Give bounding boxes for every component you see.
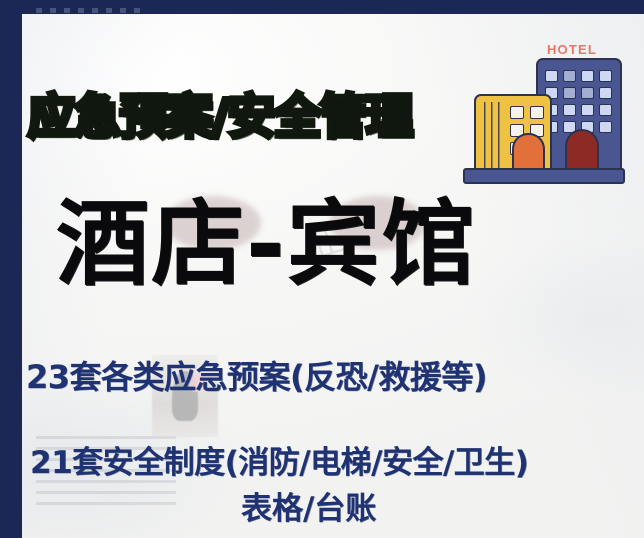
window <box>545 70 558 82</box>
subtitle-line-2: 21套安全制度(消防/电梯/安全/卫生) <box>30 437 528 482</box>
hotel-illustration: HOTEL <box>458 36 628 188</box>
window <box>599 87 612 99</box>
subtitle-line-1: 23套各类应急预案(反恐/救援等) <box>26 352 487 398</box>
window <box>563 70 576 82</box>
subtitle-line-3: 表格/台账 <box>241 483 376 528</box>
hotel-annex-building <box>474 94 552 171</box>
poster-canvas: 正 HOTEL <box>0 0 644 538</box>
window <box>581 87 594 99</box>
window <box>510 106 524 119</box>
headline-text: 应急预案/安全管理 <box>28 94 412 141</box>
hotel-annex-door <box>512 133 545 169</box>
hotel-sign-text: HOTEL <box>537 42 607 57</box>
hotel-tower-door <box>565 129 599 169</box>
page-title: 酒店-宾馆 <box>56 198 477 291</box>
window <box>563 87 576 99</box>
window <box>581 70 594 82</box>
window <box>599 121 612 133</box>
hotel-tower-window-grid <box>545 70 617 133</box>
window <box>530 106 544 119</box>
window <box>599 70 612 82</box>
window <box>563 104 576 116</box>
hotel-annex-stripes <box>484 102 504 168</box>
hotel-base-platform <box>463 168 625 184</box>
top-dot-marks <box>36 8 144 13</box>
window <box>581 104 594 116</box>
window <box>599 104 612 116</box>
